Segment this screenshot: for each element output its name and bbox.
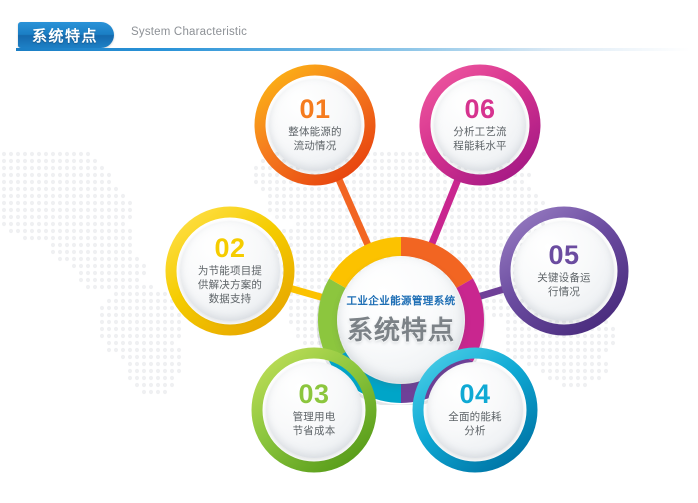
node-05-face: 05关键设备运 行情况 xyxy=(514,221,614,321)
node-05-label: 关键设备运 行情况 xyxy=(537,272,591,300)
node-02-face: 02为节能项目提 供解决方案的 数据支持 xyxy=(180,221,280,321)
node-02[interactable]: 02为节能项目提 供解决方案的 数据支持 xyxy=(164,205,296,337)
node-03-number: 03 xyxy=(298,381,329,408)
node-03[interactable]: 03管理用电 节省成本 xyxy=(250,346,378,474)
node-03-face: 03管理用电 节省成本 xyxy=(266,362,362,458)
node-01-label: 整体能源的 流动情况 xyxy=(288,126,342,154)
node-06[interactable]: 06分析工艺流 程能耗水平 xyxy=(418,63,542,187)
hub-subtitle: 工业企业能源管理系统 xyxy=(347,293,456,308)
node-05-number: 05 xyxy=(548,242,579,269)
hub-title: 系统特点 xyxy=(347,310,455,347)
slide-header: 系统特点 System Characteristic xyxy=(0,22,698,52)
diagram-stage: 工业企业能源管理系统 系统特点 01整体能源的 流动情况06分析工艺流 程能耗水… xyxy=(0,50,698,503)
node-04-face: 04全面的能耗 分析 xyxy=(427,362,523,458)
header-badge: 系统特点 xyxy=(18,22,114,48)
slide-canvas: 系统特点 System Characteristic 工业企业能源管理系统 系统… xyxy=(0,0,698,503)
node-04[interactable]: 04全面的能耗 分析 xyxy=(411,346,539,474)
header-badge-title: 系统特点 xyxy=(32,25,98,46)
node-01[interactable]: 01整体能源的 流动情况 xyxy=(253,63,377,187)
node-04-label: 全面的能耗 分析 xyxy=(448,411,502,439)
node-06-label: 分析工艺流 程能耗水平 xyxy=(453,126,507,154)
node-06-face: 06分析工艺流 程能耗水平 xyxy=(434,79,526,171)
node-06-number: 06 xyxy=(464,96,495,123)
node-02-number: 02 xyxy=(214,235,245,262)
node-03-label: 管理用电 节省成本 xyxy=(293,411,336,439)
node-05[interactable]: 05关键设备运 行情况 xyxy=(498,205,630,337)
node-01-face: 01整体能源的 流动情况 xyxy=(269,79,361,171)
node-04-number: 04 xyxy=(459,381,490,408)
header-subtitle: System Characteristic xyxy=(131,26,247,38)
node-01-number: 01 xyxy=(299,96,330,123)
node-02-label: 为节能项目提 供解决方案的 数据支持 xyxy=(198,265,262,307)
